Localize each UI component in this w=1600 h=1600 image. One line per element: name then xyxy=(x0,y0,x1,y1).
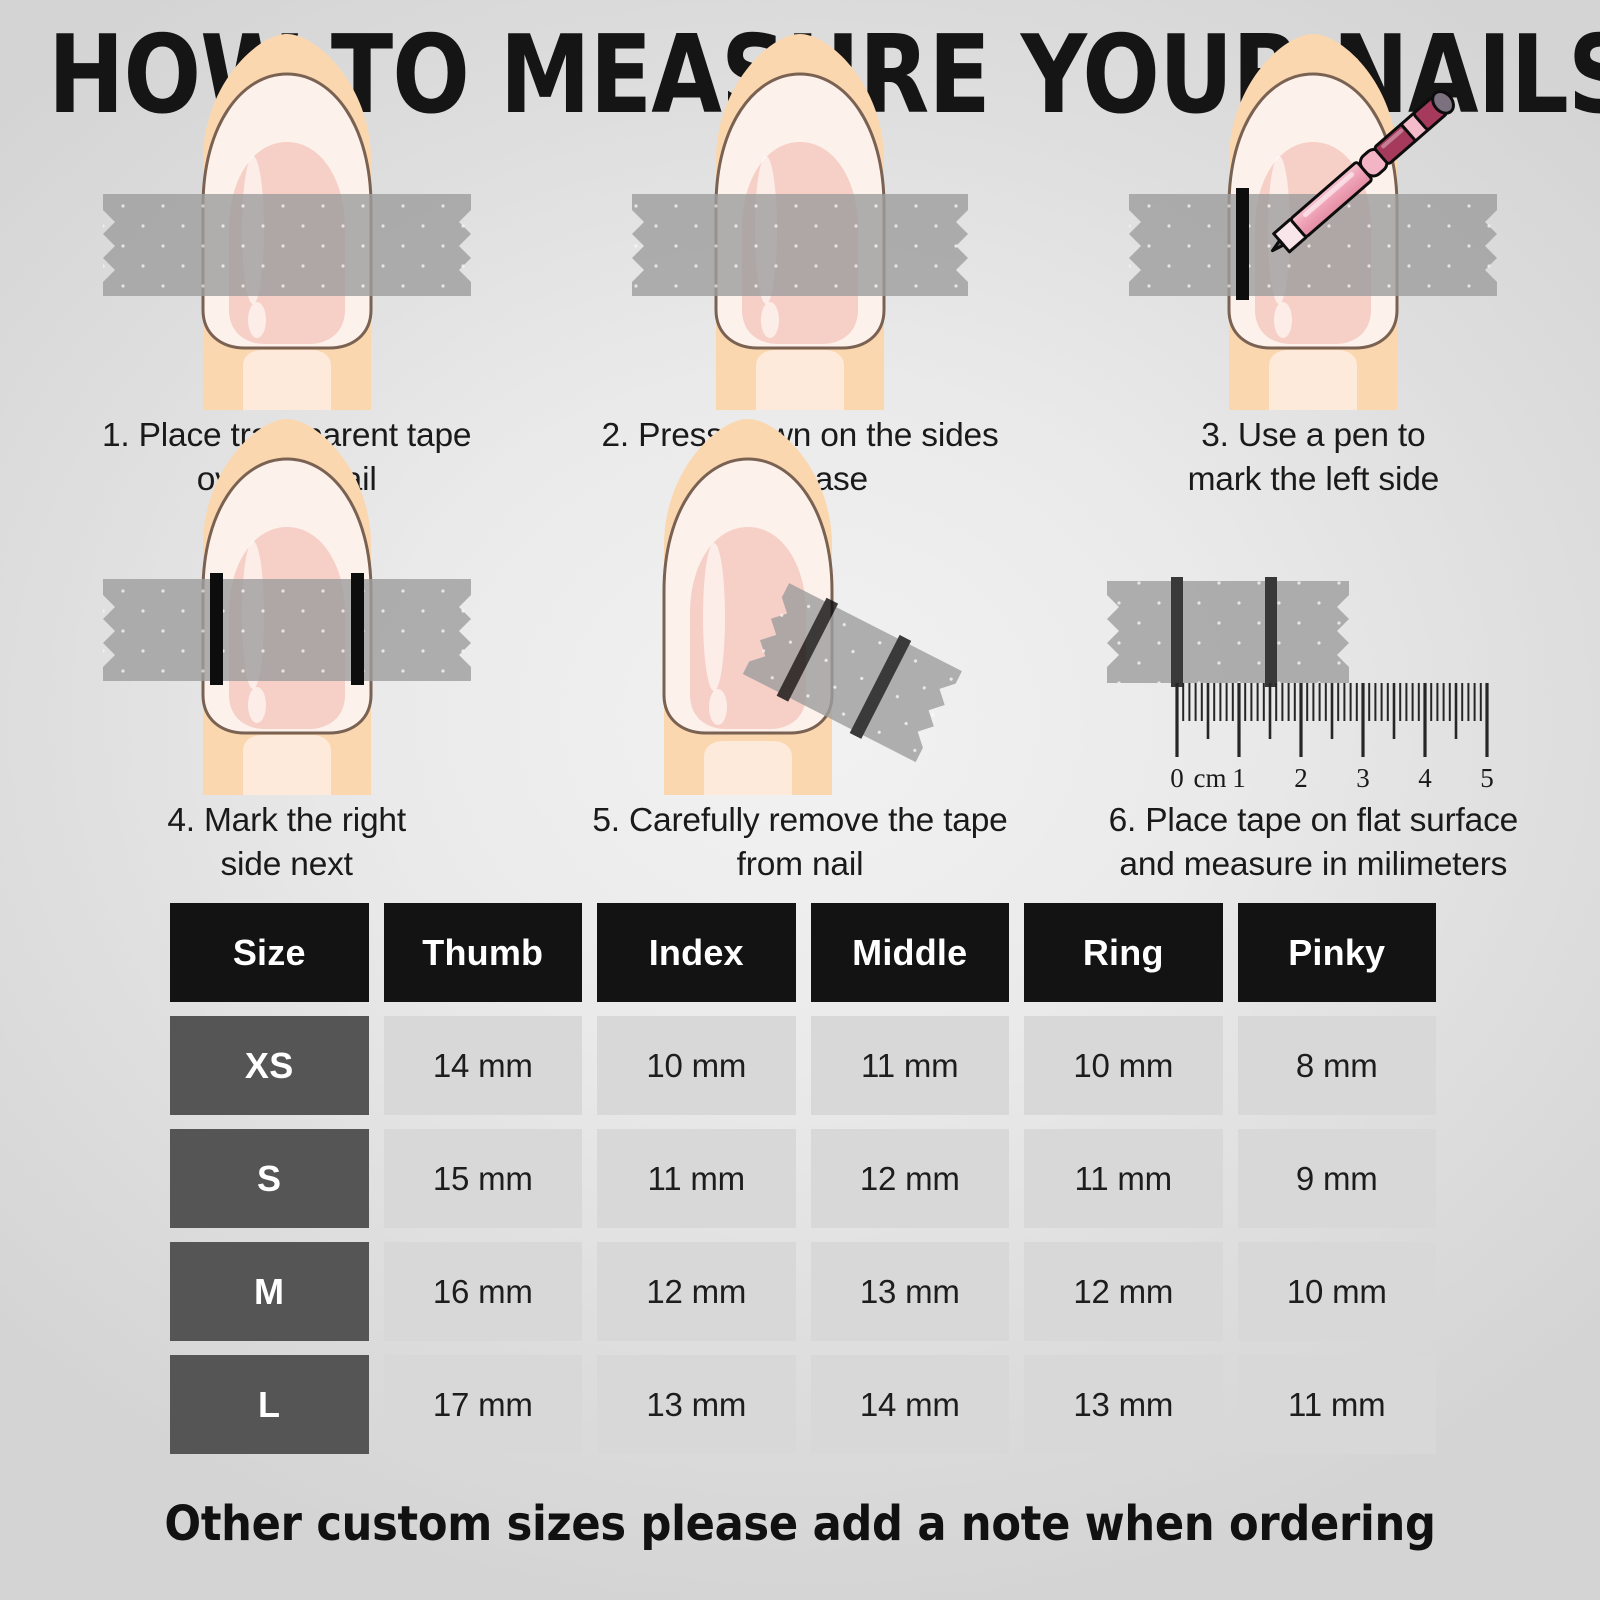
table-row-size-label: S xyxy=(170,1129,369,1228)
step-6-illustration: 0 cm 1 2 3 4 5 xyxy=(1057,505,1570,795)
table-cell: 9 mm xyxy=(1238,1129,1437,1228)
table-header-index: Index xyxy=(597,903,796,1002)
step-5: 5. Carefully remove the tape from nail xyxy=(543,505,1056,890)
step-3-caption: 3. Use a pen to mark the left side xyxy=(1188,414,1439,502)
steps-grid: 1. Place transparent tape over the nail xyxy=(30,120,1570,890)
step-3: 3. Use a pen to mark the left side xyxy=(1057,120,1570,505)
step-6-caption: 6. Place tape on flat surface and measur… xyxy=(1109,799,1518,887)
ruler-tick-0: 0 xyxy=(1171,763,1185,793)
ruler-tick-2: 2 xyxy=(1295,763,1309,793)
table-cell: 12 mm xyxy=(597,1242,796,1341)
table-cell: 14 mm xyxy=(811,1355,1010,1454)
table-cell: 11 mm xyxy=(811,1016,1010,1115)
table-cell: 13 mm xyxy=(597,1355,796,1454)
table-cell: 12 mm xyxy=(1024,1242,1223,1341)
footer-note: Other custom sizes please add a note whe… xyxy=(0,1496,1600,1552)
ruler-unit: cm xyxy=(1194,763,1227,793)
ruler-tick-1: 1 xyxy=(1233,763,1247,793)
tape-strip-flat xyxy=(1107,577,1349,687)
table-row-size-label: M xyxy=(170,1242,369,1341)
tape-strip xyxy=(103,194,471,296)
table-header-ring: Ring xyxy=(1024,903,1223,1002)
table-cell: 11 mm xyxy=(597,1129,796,1228)
table-row-size-label: L xyxy=(170,1355,369,1454)
pen-mark-right xyxy=(1265,577,1277,687)
step-4-caption: 4. Mark the right side next xyxy=(167,799,406,887)
table-cell: 10 mm xyxy=(1024,1016,1223,1115)
table-cell: 15 mm xyxy=(384,1129,583,1228)
table-header-size: Size xyxy=(170,903,369,1002)
table-cell: 16 mm xyxy=(384,1242,583,1341)
ruler-tick-3: 3 xyxy=(1357,763,1371,793)
ruler-tick-5: 5 xyxy=(1481,763,1495,793)
pen-mark-left xyxy=(1236,188,1249,300)
step-2-illustration xyxy=(543,120,1056,410)
step-3-illustration xyxy=(1057,120,1570,410)
table-cell: 13 mm xyxy=(811,1242,1010,1341)
table-cell: 13 mm xyxy=(1024,1355,1223,1454)
step-2: 2. Press down on the sides to crease xyxy=(543,120,1056,505)
table-header-pinky: Pinky xyxy=(1238,903,1437,1002)
table-cell: 11 mm xyxy=(1238,1355,1437,1454)
step-6: 0 cm 1 2 3 4 5 6. Place tape on flat sur… xyxy=(1057,505,1570,890)
ruler-tick-4: 4 xyxy=(1419,763,1433,793)
table-cell: 17 mm xyxy=(384,1355,583,1454)
table-cell: 10 mm xyxy=(1238,1242,1437,1341)
table-cell: 12 mm xyxy=(811,1129,1010,1228)
table-header-middle: Middle xyxy=(811,903,1010,1002)
pen-mark-left xyxy=(1171,577,1183,687)
table-row-size-label: XS xyxy=(170,1016,369,1115)
tape-strip-creased xyxy=(632,194,968,296)
step-1-illustration xyxy=(30,120,543,410)
table-header-thumb: Thumb xyxy=(384,903,583,1002)
table-cell: 11 mm xyxy=(1024,1129,1223,1228)
step-5-illustration xyxy=(543,505,1056,795)
pen-mark-left xyxy=(210,573,223,685)
pen-mark-right xyxy=(351,573,364,685)
ruler: 0 cm 1 2 3 4 5 xyxy=(1171,683,1495,793)
step-4-illustration xyxy=(30,505,543,795)
size-chart-table: Size Thumb Index Middle Ring Pinky XS 14… xyxy=(170,903,1436,1454)
table-cell: 8 mm xyxy=(1238,1016,1437,1115)
table-cell: 14 mm xyxy=(384,1016,583,1115)
step-5-caption: 5. Carefully remove the tape from nail xyxy=(592,799,1007,887)
tape-strip xyxy=(103,579,471,681)
table-cell: 10 mm xyxy=(597,1016,796,1115)
step-4: 4. Mark the right side next xyxy=(30,505,543,890)
